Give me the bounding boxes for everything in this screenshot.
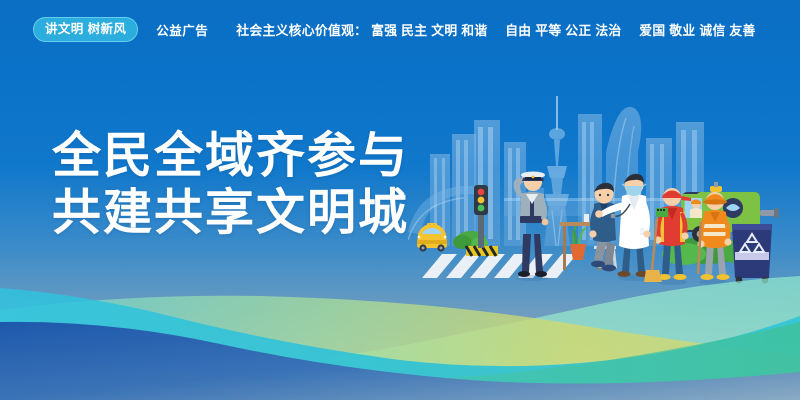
- public-ad-label: 公益广告: [156, 20, 208, 39]
- slogan-badge: 讲文明 树新风: [33, 17, 138, 42]
- decorative-waves: [0, 260, 800, 400]
- headline-line-2: 共建共享文明城: [52, 185, 409, 242]
- header-bar: 讲文明 树新风 公益广告 社会主义核心价值观： 富强 民主 文明 和谐 自由 平…: [0, 0, 800, 58]
- public-service-banner: 讲文明 树新风 公益广告 社会主义核心价值观： 富强 民主 文明 和谐 自由 平…: [0, 0, 800, 400]
- core-values-text: 社会主义核心价值观： 富强 民主 文明 和谐 自由 平等 公正 法治 爱国 敬业…: [236, 20, 760, 39]
- headline-line-1: 全民全域齐参与: [52, 128, 409, 185]
- core-values-group-3: 爱国 敬业 诚信 友善: [639, 23, 755, 38]
- core-values-prefix: 社会主义核心价值观：: [236, 23, 367, 38]
- headline: 全民全域齐参与 共建共享文明城: [52, 128, 409, 242]
- core-values-group-1: 富强 民主 文明 和谐: [371, 23, 487, 38]
- civilized-city-illustration: [408, 82, 800, 290]
- slogan-badge-label: 讲文明 树新风: [45, 23, 126, 36]
- core-values-group-2: 自由 平等 公正 法治: [505, 23, 621, 38]
